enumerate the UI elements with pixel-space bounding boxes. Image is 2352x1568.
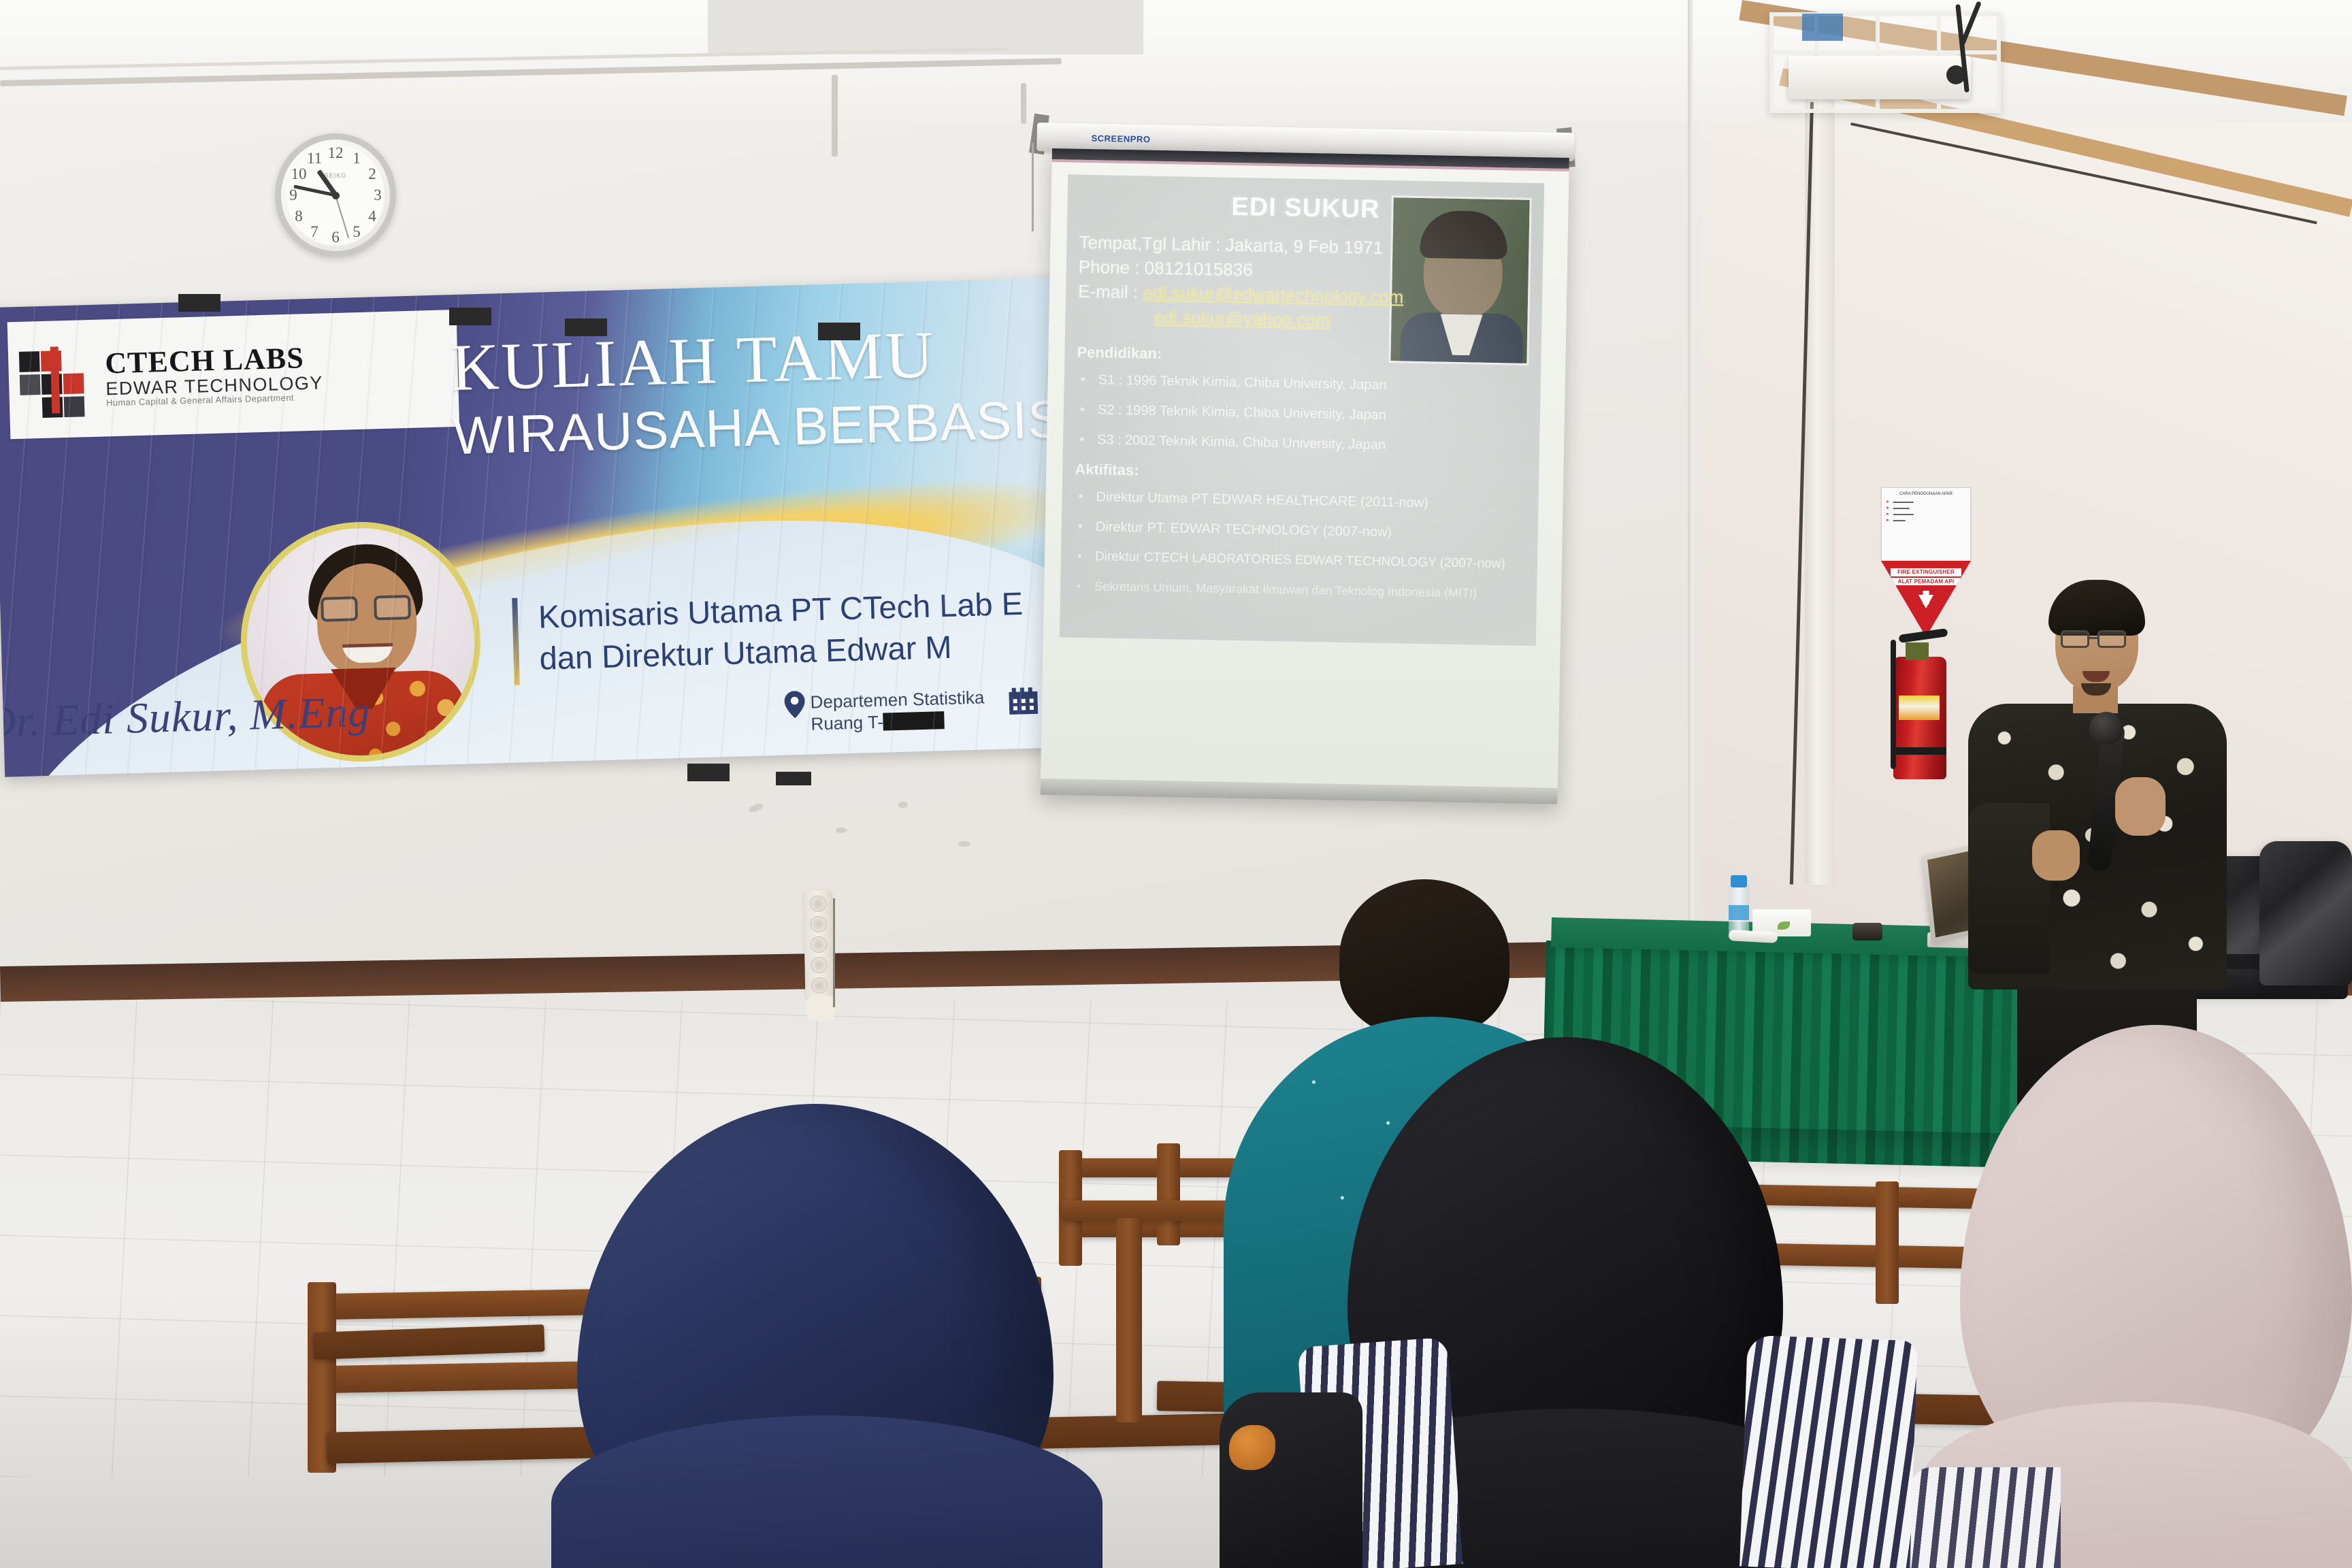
microphone-head <box>2089 712 2123 745</box>
banner-tape <box>776 772 811 785</box>
slide-activity-item: Direktur CTECH LABORATORIES EDWAR TECHNO… <box>1095 549 1505 572</box>
bench-post <box>1116 1218 1142 1422</box>
event-banner: CTECH LABS EDWAR TECHNOLOGY Human Capita… <box>0 278 1079 777</box>
water-bottle-cap[interactable] <box>1731 875 1747 887</box>
slide-education-heading: Pendidikan: <box>1077 344 1162 363</box>
bench-post <box>1876 1181 1899 1304</box>
wall-clock: SEIKO 12 1 2 3 4 5 6 7 8 9 10 11 <box>275 133 396 257</box>
banner-tape <box>178 294 220 312</box>
power-socket[interactable] <box>811 957 827 973</box>
calendar-icon <box>1009 687 1038 715</box>
water-bottle-label <box>1729 905 1749 920</box>
clock-brand-label: SEIKO <box>325 172 347 179</box>
slide-activity-item: Sekretaris Umum, Masyarakat Ilmuwan dan … <box>1094 579 1477 600</box>
outlet-cable <box>833 898 835 1007</box>
black-hijab-arm <box>1220 1392 1362 1568</box>
banner-subtitle: Komisaris Utama PT CTech Lab E dan Direk… <box>538 583 1024 679</box>
clock-number: 12 <box>327 144 344 162</box>
slide-activity-item: Direktur Utama PT EDWAR HEALTHCARE (2011… <box>1096 489 1428 511</box>
presenter-glasses-bridge <box>2088 637 2099 639</box>
ctech-logo-text: CTECH LABS EDWAR TECHNOLOGY Human Capita… <box>105 342 324 408</box>
fire-extinguisher-instructions: CARA PENGGUNAAN APAR ➤ ▬▬▬▬▬ ➤ ▬▬▬▬ ➤ ▬▬… <box>1881 487 1971 562</box>
banner-tape <box>687 764 730 781</box>
slide-phone-info: Phone : 08121015836 <box>1079 257 1253 281</box>
banner-tape <box>818 323 860 340</box>
slide-portrait-hair <box>1420 210 1507 259</box>
projection-screen: EDI SUKUR Tempat,Tgl Lahir : Jakarta, 9 … <box>1041 148 1569 804</box>
presenter-glasses-right-lens <box>2097 630 2126 648</box>
clock-number: 7 <box>306 223 323 241</box>
presenter-left-arm <box>1968 803 2050 973</box>
slide-email-label: E-mail : <box>1078 281 1139 303</box>
banner-venue: Departemen Statistika Ruang T- <box>810 687 985 736</box>
power-strip[interactable] <box>804 890 834 1000</box>
power-socket[interactable] <box>811 977 828 994</box>
location-pin-icon <box>784 691 805 719</box>
junction-box <box>807 996 834 1021</box>
fire-extinguisher-hose <box>1891 640 1896 769</box>
dark-object-on-table[interactable] <box>1852 923 1882 941</box>
slide-education-item: S3 : 2002 Teknik Kimia, Chiba University… <box>1097 432 1386 453</box>
slide-email-row: E-mail : edi.sukur@edwartechnology.com <box>1078 281 1404 308</box>
slide-email-1[interactable]: edi.sukur@edwartechnology.com <box>1143 282 1403 307</box>
clock-number: 6 <box>327 229 344 246</box>
slide-activity-item: Direktur PT. EDWAR TECHNOLOGY (2007-now) <box>1096 519 1392 540</box>
ceiling-soffit <box>708 0 1143 54</box>
wall-corner <box>1688 0 1693 1021</box>
clock-center-pin <box>332 192 340 199</box>
clock-number: 4 <box>363 208 381 225</box>
wall-conduit-vertical <box>832 75 838 157</box>
wall-scuff <box>958 841 970 847</box>
fire-extinguisher-label <box>1899 696 1940 720</box>
fire-extinguisher-band <box>1893 747 1946 755</box>
clock-number: 5 <box>348 223 365 241</box>
fire-instruction-title: CARA PENGGUNAAN APAR <box>1886 491 1966 497</box>
projected-slide: EDI SUKUR Tempat,Tgl Lahir : Jakarta, 9 … <box>1060 174 1544 646</box>
audience-hair <box>1339 879 1509 1036</box>
ctech-labs-logo: CTECH LABS EDWAR TECHNOLOGY Human Capita… <box>7 310 460 439</box>
wall-scuff <box>836 828 847 833</box>
projector-cage-object <box>1802 14 1843 41</box>
screen-pull-wire <box>1032 143 1034 231</box>
ctech-logo-mark <box>18 342 94 417</box>
banner-tape <box>449 308 491 325</box>
redaction-box <box>883 711 945 731</box>
slide-email-2[interactable]: edi.sukur@yahoo.com <box>1154 307 1330 331</box>
presenter-right-hand <box>2115 777 2166 836</box>
slide-portrait-photo <box>1388 195 1531 365</box>
slide-birth-info: Tempat,Tgl Lahir : Jakarta, 9 Feb 1971 <box>1079 232 1383 259</box>
fire-extinguisher-neck <box>1906 642 1929 660</box>
power-socket[interactable] <box>810 896 826 912</box>
clock-number: 10 <box>290 165 308 183</box>
classroom-photo: SEIKO 12 1 2 3 4 5 6 7 8 9 10 11 <box>0 0 2352 1568</box>
ceiling-projector <box>1788 56 1971 99</box>
hand-accessory <box>1229 1425 1275 1470</box>
clock-number: 11 <box>306 150 323 167</box>
screen-brand-label: SCREENPRO <box>1091 133 1150 145</box>
banner-venue-room-label: Ruang T- <box>811 711 883 734</box>
clock-number: 3 <box>369 186 387 204</box>
banner-tape <box>565 318 607 336</box>
presenter-left-hand <box>2032 830 2080 881</box>
bench-post <box>1157 1143 1180 1245</box>
wall-scuff <box>898 802 908 808</box>
pink-hijab-striped-sleeve <box>1911 1467 2061 1568</box>
striped-shirt <box>1739 1335 1918 1568</box>
slide-education-item: S1 : 1996 Teknik Kimia, Chiba University… <box>1098 372 1387 393</box>
clock-face: SEIKO 12 1 2 3 4 5 6 7 8 9 10 11 <box>287 145 385 246</box>
presenter-glasses-left-lens <box>2061 630 2089 648</box>
banner-photo-glasses-right <box>374 595 411 620</box>
wall-conduit-vertical-2 <box>1021 83 1026 124</box>
fire-sign-line1: FIRE EXTINGUISHER <box>1891 568 1961 576</box>
slide-education-item: S2 : 1998 Teknik Kimia, Chiba University… <box>1098 402 1386 423</box>
fire-sign-arrow-stem <box>1923 591 1929 604</box>
power-socket[interactable] <box>811 936 827 953</box>
clock-number: 2 <box>363 165 381 183</box>
fire-sign-line2: ALAT PEMADAM API <box>1891 578 1961 586</box>
clock-number: 8 <box>290 208 308 225</box>
slide-activity-heading: Aktifitas: <box>1075 461 1139 480</box>
power-socket[interactable] <box>810 916 826 932</box>
office-chair-secondary[interactable] <box>2259 841 2352 985</box>
banner-photo-glasses-left <box>321 596 358 621</box>
